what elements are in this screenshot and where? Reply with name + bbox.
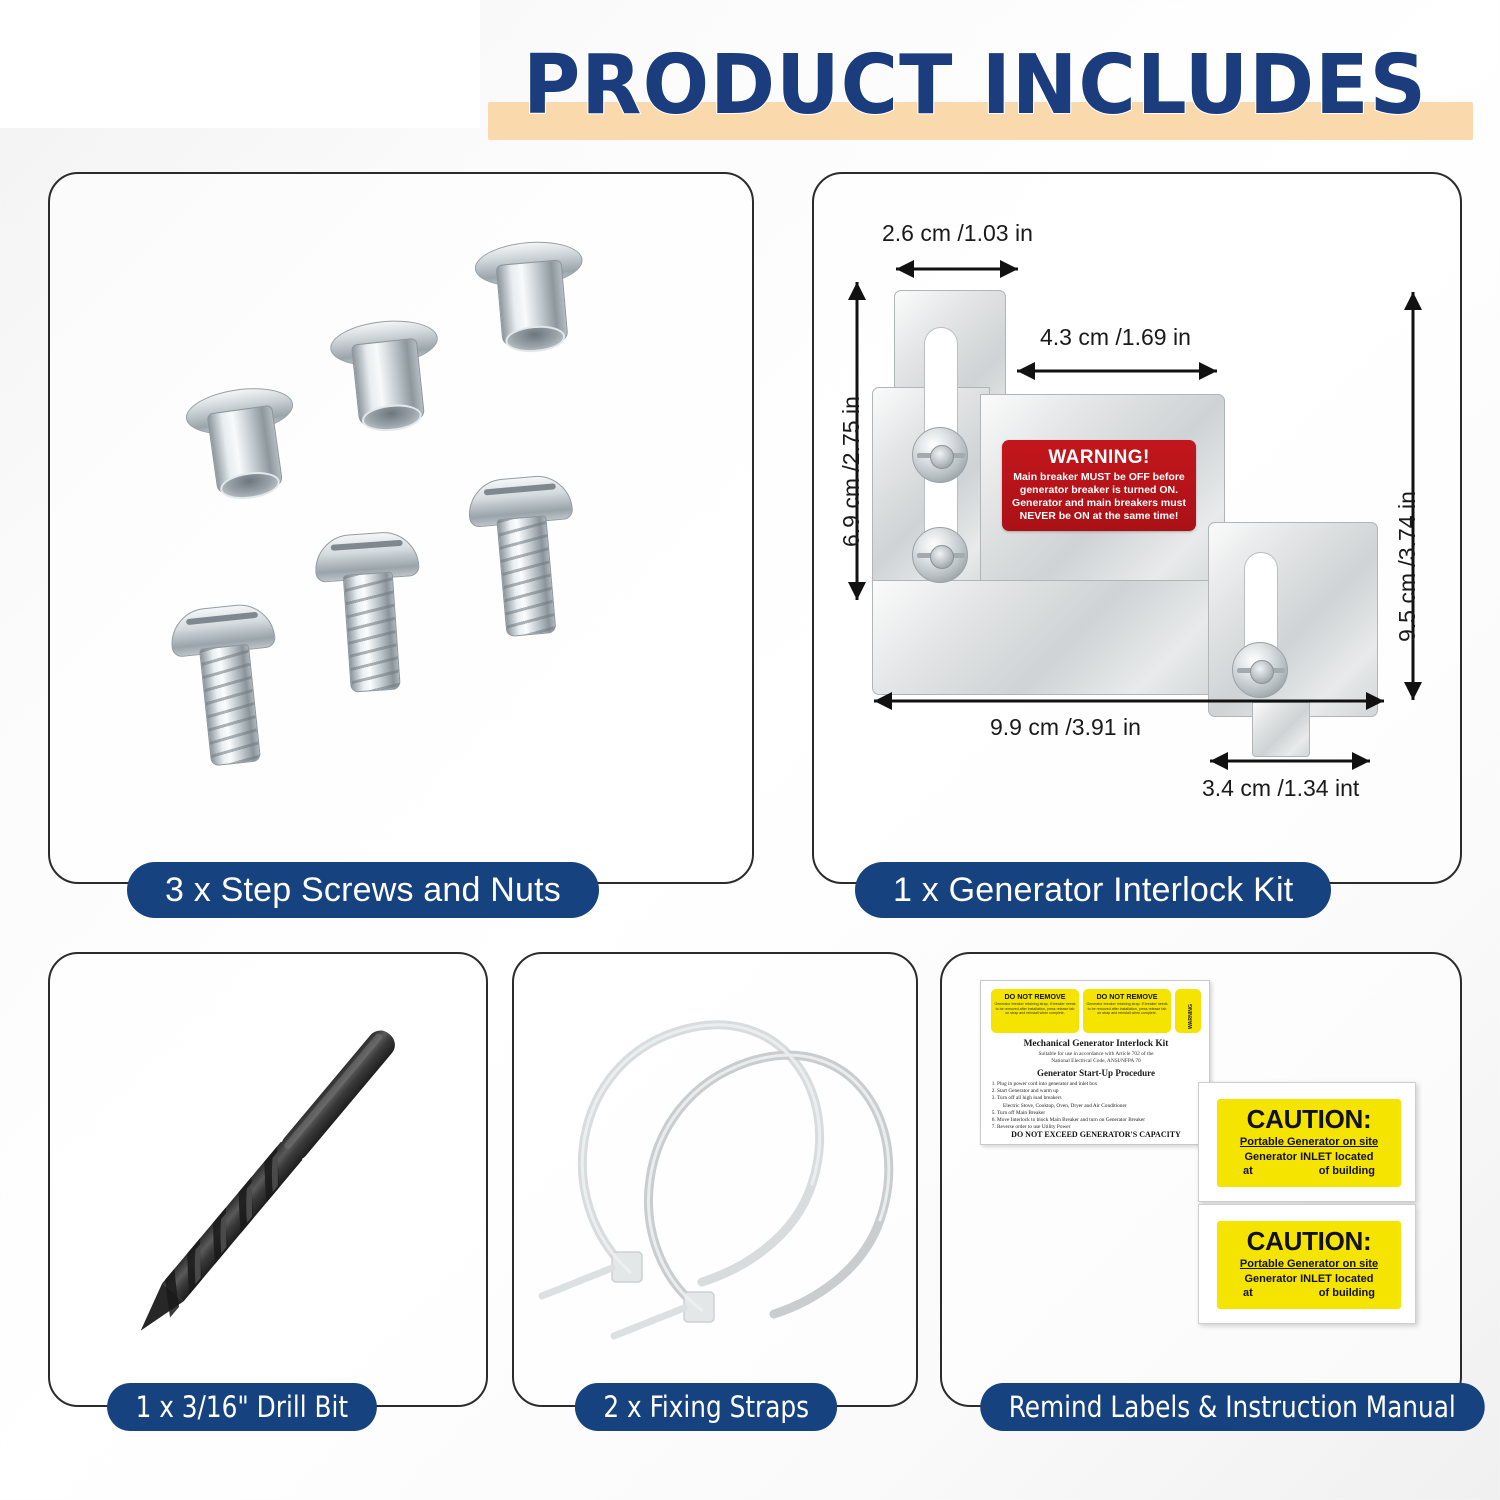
instruction-manual-sheet: DO NOT REMOVE Generator breaker retainin… bbox=[980, 980, 1210, 1145]
manual-step-detail: Electric Stove, Cooktop, Oven, Dryer and… bbox=[1003, 1103, 1202, 1110]
drill-bit-image bbox=[48, 952, 488, 1407]
page-title: PRODUCT INCLUDES bbox=[460, 36, 1490, 146]
screw-slot-icon bbox=[484, 483, 556, 495]
dim-arrow-top-width bbox=[896, 260, 1018, 278]
caution-line3-before: at bbox=[1243, 1287, 1253, 1299]
warning-label-line4: NEVER be ON at the same time! bbox=[1008, 510, 1190, 523]
drill-bit-icon bbox=[48, 952, 488, 1407]
caption-step-screws-and-nuts: 3 x Step Screws and Nuts bbox=[127, 862, 599, 918]
dim-arrow-tab-width bbox=[1210, 752, 1370, 770]
manual-steps-list: Plug in power cord into generator and in… bbox=[997, 1081, 1202, 1131]
screw-shaft-icon bbox=[199, 644, 261, 767]
hardware-group bbox=[48, 172, 754, 884]
dim-label-right-height: 9.5 cm /3.74 in bbox=[1394, 491, 1421, 642]
caption-remind-labels-manual: Remind Labels & Instruction Manual bbox=[980, 1383, 1484, 1431]
dim-arrow-overall-width bbox=[874, 692, 1384, 710]
dim-label-overall-width: 9.9 cm /3.91 in bbox=[990, 714, 1141, 741]
manual-step: Turn off all high load breakers bbox=[997, 1095, 1202, 1102]
caption-drill-bit: 1 x 3/16" Drill Bit bbox=[107, 1383, 377, 1431]
screw-shaft-icon bbox=[343, 572, 401, 693]
do-not-remove-title: DO NOT REMOVE bbox=[994, 992, 1076, 1001]
manual-subtitle-line1: Suitable for use in accordance with Arti… bbox=[981, 1051, 1211, 1058]
interlock-bracket-diagram: 2.6 cm /1.03 in 4.3 cm /1.69 in 6.9 cm /… bbox=[812, 172, 1462, 884]
bracket-screw-washer bbox=[1232, 642, 1288, 698]
dim-label-top-width: 2.6 cm /1.03 in bbox=[882, 220, 1033, 247]
manual-subtitle-line2: National Electrical Code, ANSI/NFPA 70 bbox=[981, 1058, 1211, 1065]
do-not-remove-sticker: DO NOT REMOVE Generator breaker retainin… bbox=[1083, 989, 1171, 1033]
caution-line3: atof building bbox=[1217, 1286, 1401, 1300]
caution-line2: Generator INLET located bbox=[1217, 1150, 1401, 1164]
do-not-remove-sticker-row: DO NOT REMOVE Generator breaker retainin… bbox=[991, 989, 1203, 1033]
bracket-base-plate bbox=[872, 580, 1227, 695]
do-not-remove-body: Generator breaker retaining strap. If br… bbox=[994, 1002, 1076, 1016]
warning-label-title: WARNING! bbox=[1002, 447, 1196, 469]
do-not-remove-sticker: DO NOT REMOVE Generator breaker retainin… bbox=[991, 989, 1079, 1033]
caution-title: CAUTION: bbox=[1217, 1227, 1401, 1255]
warning-label-line3: Generator and main breakers must bbox=[1008, 497, 1190, 510]
warning-label-line1: Main breaker MUST be OFF before bbox=[1008, 471, 1190, 484]
manual-title: Mechanical Generator Interlock Kit bbox=[981, 1039, 1211, 1049]
caution-title: CAUTION: bbox=[1217, 1105, 1401, 1133]
caution-line3: atof building bbox=[1217, 1164, 1401, 1178]
dim-label-left-height: 6.9 cm /2.75 in bbox=[838, 396, 865, 547]
manual-step: Turn off Main Breaker bbox=[997, 1110, 1202, 1117]
manual-procedure-heading: Generator Start-Up Procedure bbox=[981, 1068, 1211, 1078]
caution-line3-before: at bbox=[1243, 1165, 1253, 1177]
manual-footer: DO NOT EXCEED GENERATOR'S CAPACITY bbox=[981, 1130, 1211, 1139]
manual-step: Move Interlock to block Main Breaker and… bbox=[997, 1117, 1202, 1124]
vertical-warning-text: WARNING bbox=[1188, 1004, 1194, 1029]
caution-label: CAUTION: Portable Generator on site Gene… bbox=[1217, 1099, 1401, 1187]
caution-line3-after: of building bbox=[1319, 1287, 1375, 1299]
zip-tie-icon bbox=[512, 952, 918, 1407]
labels-and-manual-image: DO NOT REMOVE Generator breaker retainin… bbox=[940, 952, 1462, 1407]
caution-label: CAUTION: Portable Generator on site Gene… bbox=[1217, 1221, 1401, 1309]
screw-slot-icon bbox=[331, 540, 403, 551]
header-white-block bbox=[0, 0, 480, 128]
dim-label-inner-width: 4.3 cm /1.69 in bbox=[1040, 324, 1191, 351]
fixing-straps-image bbox=[512, 952, 918, 1407]
caution-label-sheet: CAUTION: Portable Generator on site Gene… bbox=[1198, 1082, 1416, 1202]
bracket-right-plate bbox=[1208, 522, 1378, 717]
vertical-warning-sticker: WARNING bbox=[1175, 989, 1201, 1033]
bracket-screw-washer bbox=[912, 527, 968, 583]
warning-label: WARNING! Main breaker MUST be OFF before… bbox=[1002, 440, 1196, 531]
caution-line2: Generator INLET located bbox=[1217, 1272, 1401, 1286]
bracket-screw-washer bbox=[912, 427, 968, 483]
dim-label-tab-width: 3.4 cm /1.34 int bbox=[1202, 775, 1359, 802]
caption-fixing-straps: 2 x Fixing Straps bbox=[575, 1383, 838, 1431]
manual-step: Plug in power cord into generator and in… bbox=[997, 1081, 1202, 1088]
warning-label-line2: generator breaker is turned ON. bbox=[1008, 484, 1190, 497]
screw-slot-icon bbox=[186, 612, 258, 625]
manual-subtitle: Suitable for use in accordance with Arti… bbox=[981, 1051, 1211, 1065]
page-title-text: PRODUCT INCLUDES bbox=[429, 36, 1500, 136]
screw-shaft-icon bbox=[496, 515, 556, 637]
caution-label-sheet: CAUTION: Portable Generator on site Gene… bbox=[1198, 1204, 1416, 1324]
caution-line1: Portable Generator on site bbox=[1217, 1135, 1401, 1150]
do-not-remove-title: DO NOT REMOVE bbox=[1086, 992, 1168, 1001]
dim-arrow-inner-width bbox=[1017, 362, 1217, 380]
header: PRODUCT INCLUDES bbox=[0, 0, 1500, 160]
bracket-sliding-tab bbox=[1252, 702, 1310, 757]
caution-line3-after: of building bbox=[1319, 1165, 1375, 1177]
caption-generator-interlock-kit: 1 x Generator Interlock Kit bbox=[855, 862, 1331, 918]
caution-line1: Portable Generator on site bbox=[1217, 1257, 1401, 1272]
do-not-remove-body: Generator breaker retaining strap. If br… bbox=[1086, 1002, 1168, 1016]
